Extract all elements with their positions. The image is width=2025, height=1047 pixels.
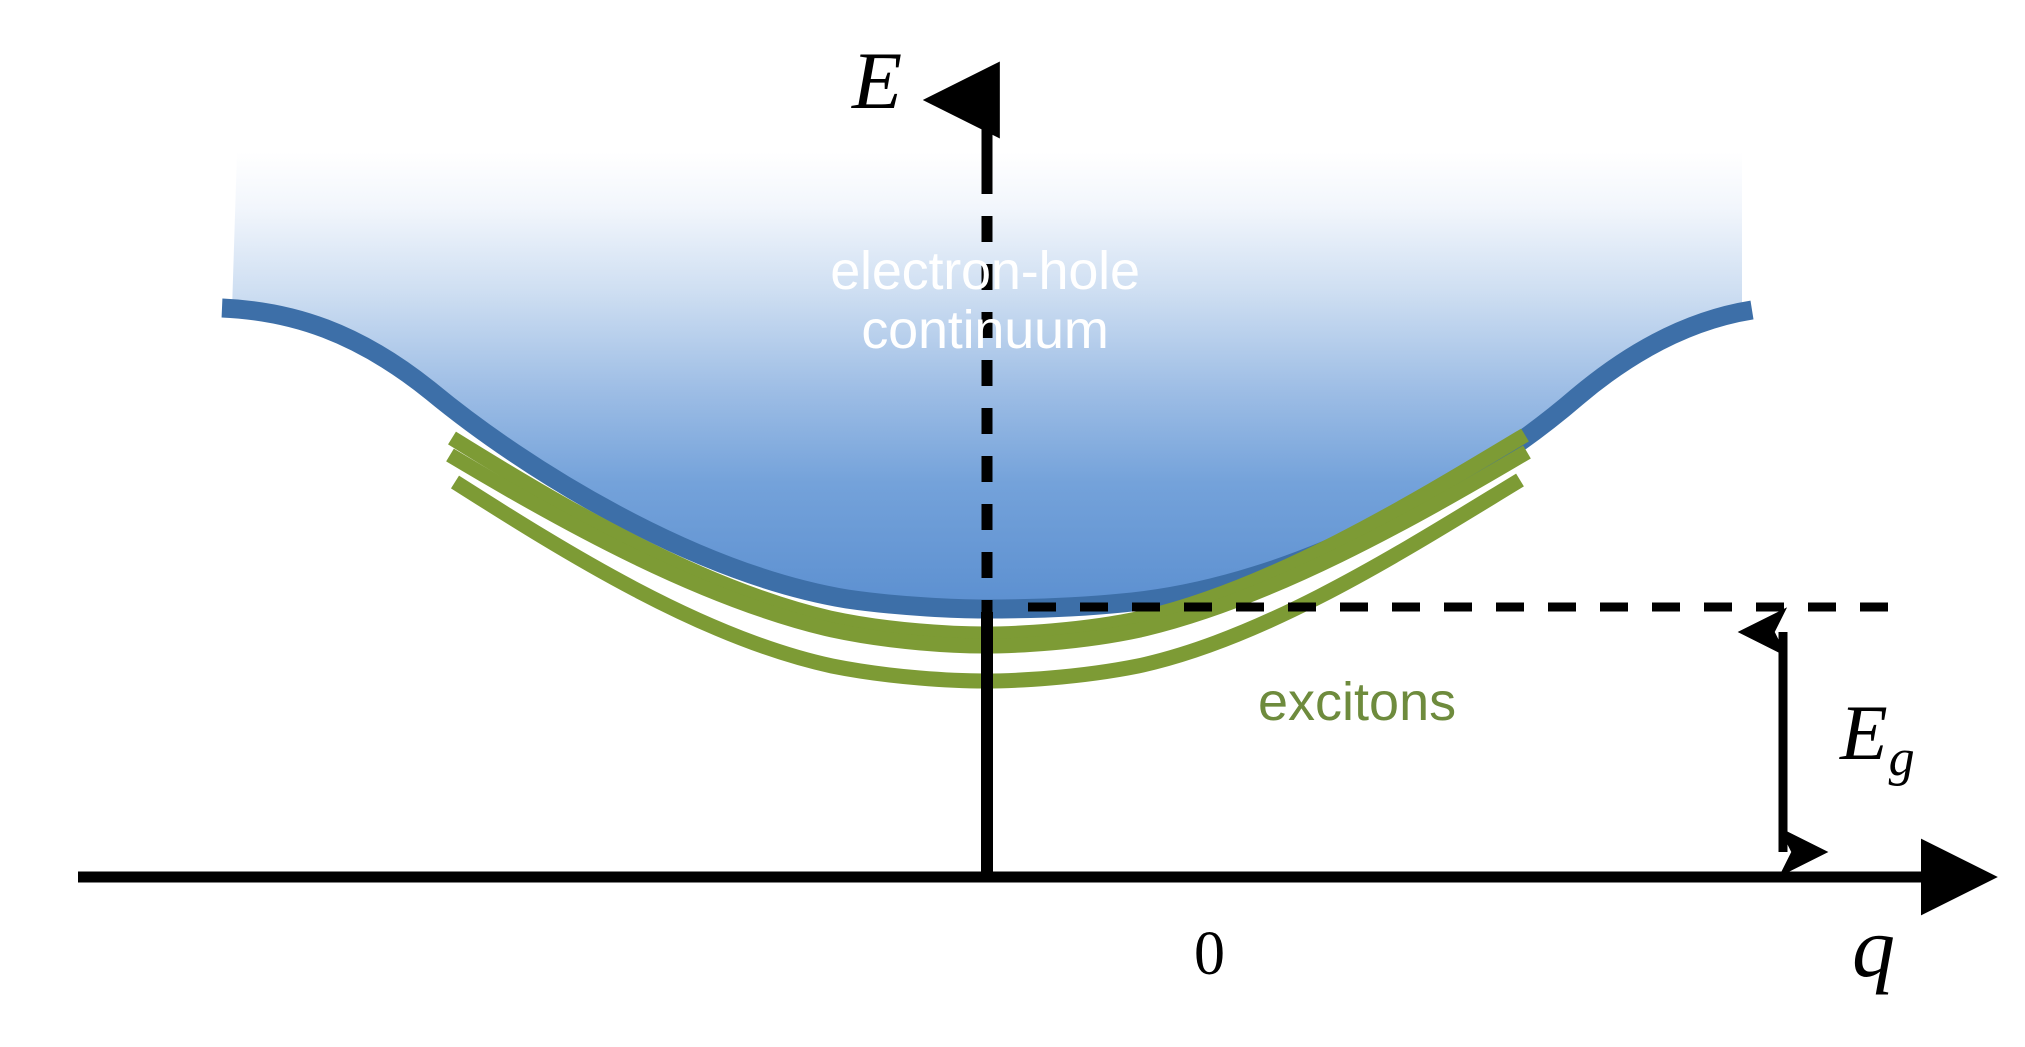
axes-layer	[0, 0, 2025, 1047]
exciton-dispersion-figure: E q 0 Eg electron-holecontinuum excitons	[0, 0, 2025, 1047]
band-gap-symbol: E	[1840, 689, 1888, 776]
origin-label: 0	[1194, 920, 1225, 988]
y-axis-label: E	[852, 36, 902, 126]
continuum-label-line2: continuum	[830, 301, 1140, 360]
band-gap-label: Eg	[1840, 690, 1915, 787]
excitons-label: excitons	[1258, 673, 1456, 732]
x-axis-label: q	[1852, 900, 1895, 995]
band-gap-subscript: g	[1889, 730, 1915, 787]
continuum-label-line1: electron-hole	[830, 241, 1140, 301]
continuum-label: electron-holecontinuum	[830, 242, 1140, 361]
